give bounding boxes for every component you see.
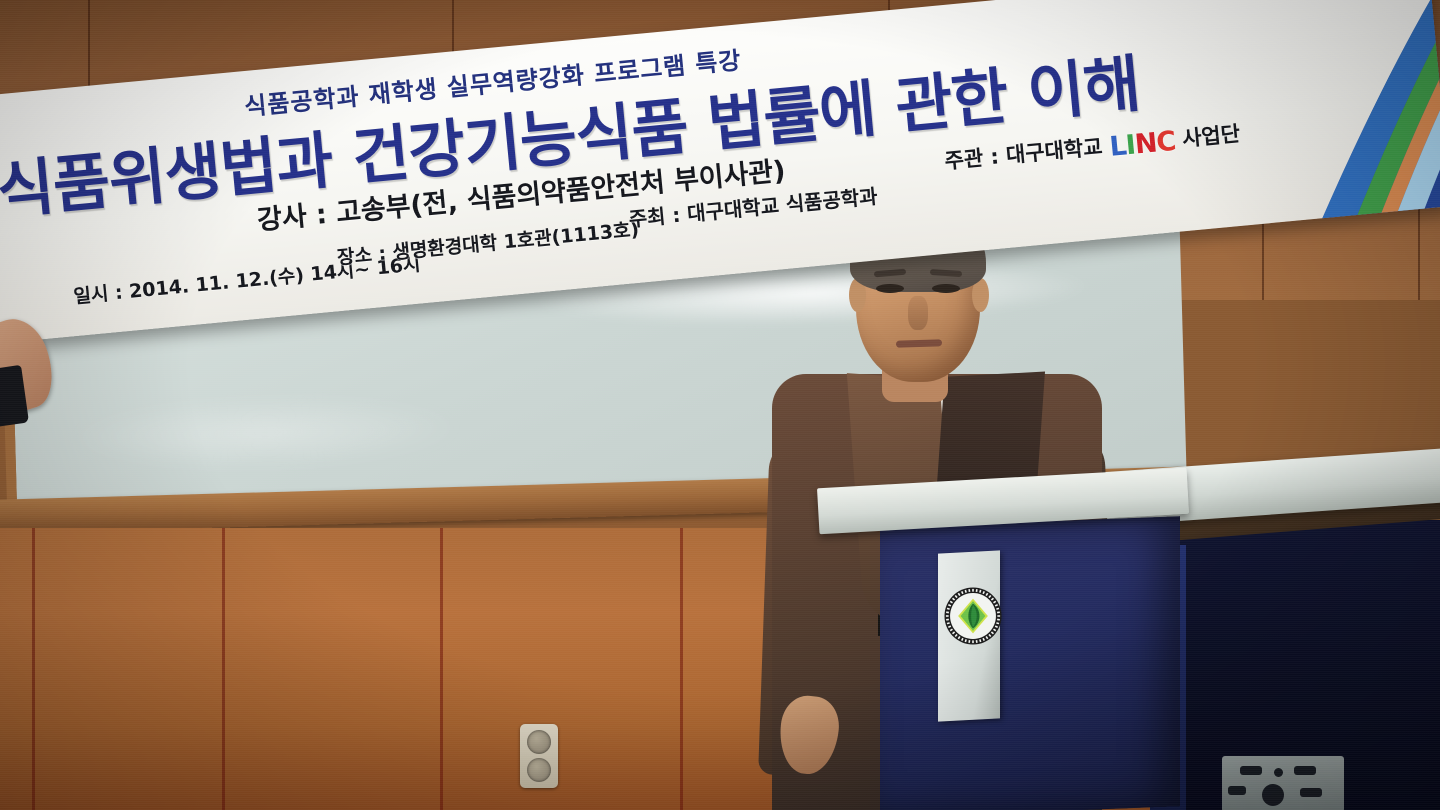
university-leaf-emblem-icon [942, 572, 1004, 660]
control-panel-button-1[interactable] [1240, 766, 1262, 775]
av-control-panel[interactable] [1222, 756, 1344, 810]
control-panel-button-2[interactable] [1274, 768, 1283, 777]
podium-body [880, 516, 1180, 810]
photo-scene: 식품공학과 재학생 실무역량강화 프로그램 특강 식품위생법과 건강기능식품 법… [0, 0, 1440, 810]
control-panel-button-5[interactable] [1262, 784, 1284, 806]
control-panel-button-4[interactable] [1228, 786, 1246, 795]
banner-supporter-suffix: 사업단 [1181, 122, 1241, 151]
assistant-sleeve [0, 365, 29, 430]
speaker-eye-left [876, 284, 904, 293]
control-panel-button-3[interactable] [1294, 766, 1316, 775]
outlet-socket-top [527, 730, 551, 754]
speaker-eye-right [932, 284, 960, 293]
speaker-nose [908, 296, 928, 330]
banner-supporter-prefix: 주관 : 대구대학교 [944, 135, 1104, 174]
linc-logo-letter-c: C [1155, 126, 1177, 159]
wall-power-outlet[interactable] [520, 724, 558, 788]
outlet-socket-bottom [527, 758, 551, 782]
whiteboard-glare-secondary [74, 392, 456, 473]
linc-logo: LINC [1108, 126, 1176, 163]
control-panel-button-6[interactable] [1300, 788, 1322, 797]
